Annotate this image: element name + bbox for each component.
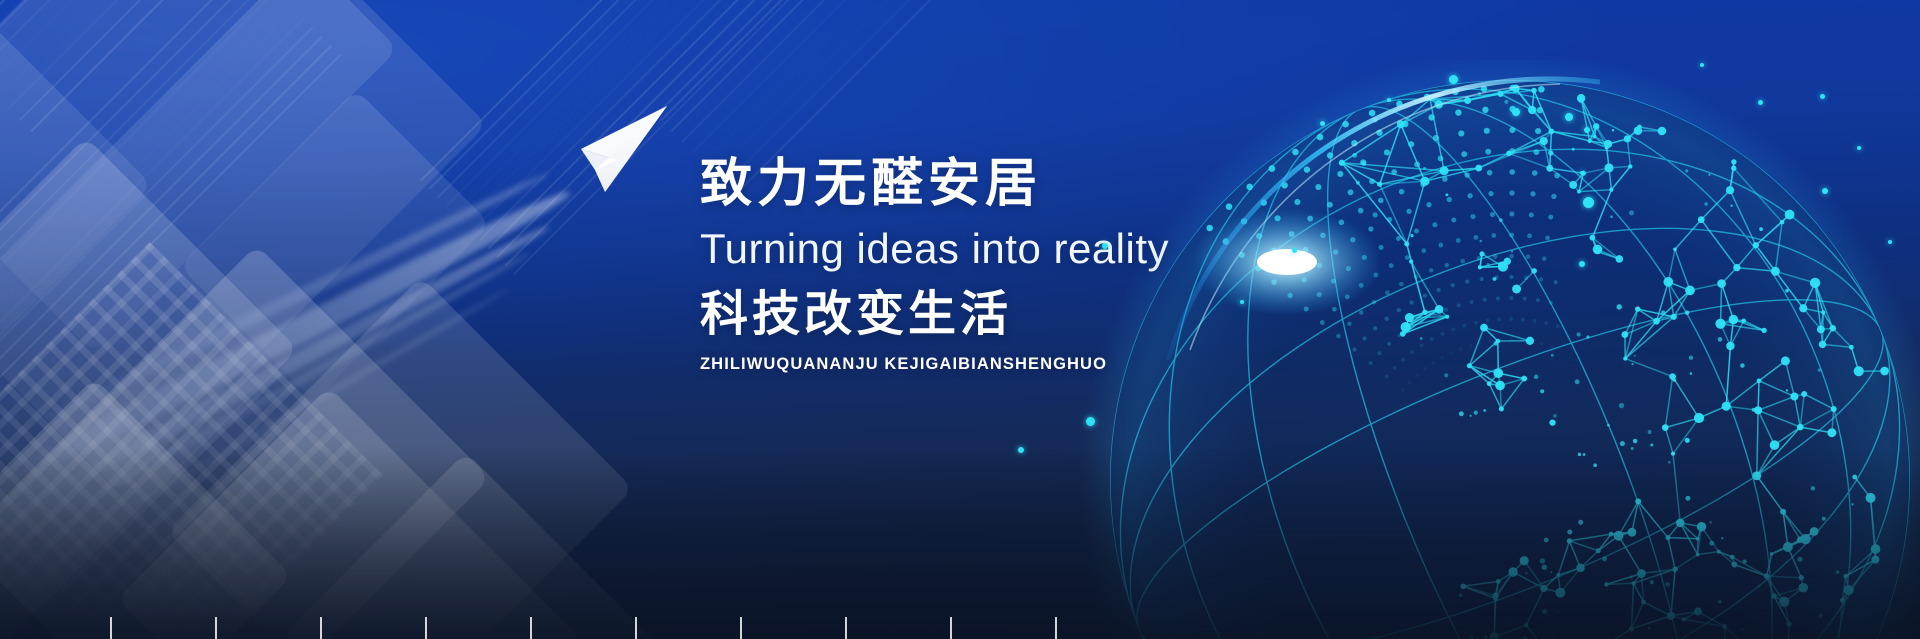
dot-grid-pattern [0, 242, 383, 639]
stripe-line [0, 27, 313, 396]
geometric-shape [0, 378, 292, 639]
particle-dot [1857, 146, 1861, 150]
tick-mark [845, 617, 847, 639]
headline-primary: 致力无醛安居 [700, 155, 1340, 213]
stripe-line [0, 0, 249, 331]
stripe-line [0, 0, 349, 53]
particle-dot [1888, 240, 1892, 244]
stripe-line [0, 0, 383, 87]
light-beam [38, 249, 532, 528]
stripe-line [31, 0, 428, 132]
stripe-line [19, 0, 416, 121]
geometric-shape [179, 89, 490, 400]
headline-secondary: 科技改变生活 [700, 288, 1340, 342]
stripe-line [0, 0, 394, 98]
geometric-shape [0, 0, 398, 353]
bottom-gradient-overlay [0, 449, 1920, 639]
stripe-line [713, 0, 1110, 174]
stripe-line [0, 0, 286, 368]
light-beam [16, 219, 553, 515]
stripe-line [0, 0, 360, 64]
tick-mark [110, 617, 112, 639]
stripe-line [0, 45, 332, 414]
particle-dot [1583, 197, 1594, 208]
geometric-shape [167, 277, 634, 639]
tick-mark [425, 617, 427, 639]
particle-dot [1086, 417, 1095, 426]
stripe-line [702, 0, 1099, 164]
stripe-line [692, 0, 1089, 153]
stripe-line [0, 0, 277, 359]
particle-dot [1320, 121, 1325, 126]
particle-dot [1512, 108, 1520, 116]
tagline-english: Turning ideas into reality [700, 225, 1340, 273]
particle-dot [1579, 261, 1585, 267]
hero-banner: 致力无醛安居 Turning ideas into reality 科技改变生活… [0, 0, 1920, 639]
particle-dot [1449, 75, 1458, 84]
particle-dot [1018, 447, 1024, 453]
stripe-line [0, 36, 323, 405]
light-beam [0, 169, 550, 452]
banner-copy: 致力无醛安居 Turning ideas into reality 科技改变生活… [700, 155, 1340, 374]
particle-dot [1580, 171, 1584, 175]
particle-dot [1700, 63, 1704, 67]
stripe-line [0, 8, 295, 377]
stripe-line [671, 0, 1068, 132]
geometric-shape [282, 452, 678, 639]
tick-mark [215, 617, 217, 639]
tick-mark [1055, 617, 1057, 639]
particle-dot [1820, 94, 1825, 99]
bottom-tick-marks [0, 613, 1920, 639]
geometric-shape [0, 137, 298, 639]
particle-dot [1565, 113, 1573, 121]
stripe-line [8, 0, 405, 109]
tick-mark [740, 617, 742, 639]
particle-dot [1822, 188, 1828, 194]
particle-dot [1758, 100, 1763, 105]
tick-mark [530, 617, 532, 639]
tick-mark [950, 617, 952, 639]
stripe-line [0, 0, 371, 75]
geometric-shape [0, 245, 490, 639]
stripe-line [660, 0, 1057, 121]
particle-dot [1584, 127, 1590, 133]
geometric-shape [0, 23, 152, 398]
light-beam [59, 285, 512, 550]
particle-dot [1387, 98, 1391, 102]
stripe-line [0, 0, 258, 341]
geometric-shape [117, 387, 584, 639]
paper-plane-icon [555, 100, 685, 220]
geometric-shape [0, 0, 487, 492]
pinyin-subtitle: ZHILIWUQUANANJU KEJIGAIBIANSHENGHUO [700, 355, 1340, 374]
stripe-line [0, 0, 267, 350]
stripe-line [681, 0, 1078, 143]
tick-mark [320, 617, 322, 639]
tick-mark [635, 617, 637, 639]
stripe-line [0, 54, 341, 423]
stripe-line [0, 0, 337, 41]
stripe-line [0, 17, 304, 386]
light-beam [0, 181, 576, 495]
